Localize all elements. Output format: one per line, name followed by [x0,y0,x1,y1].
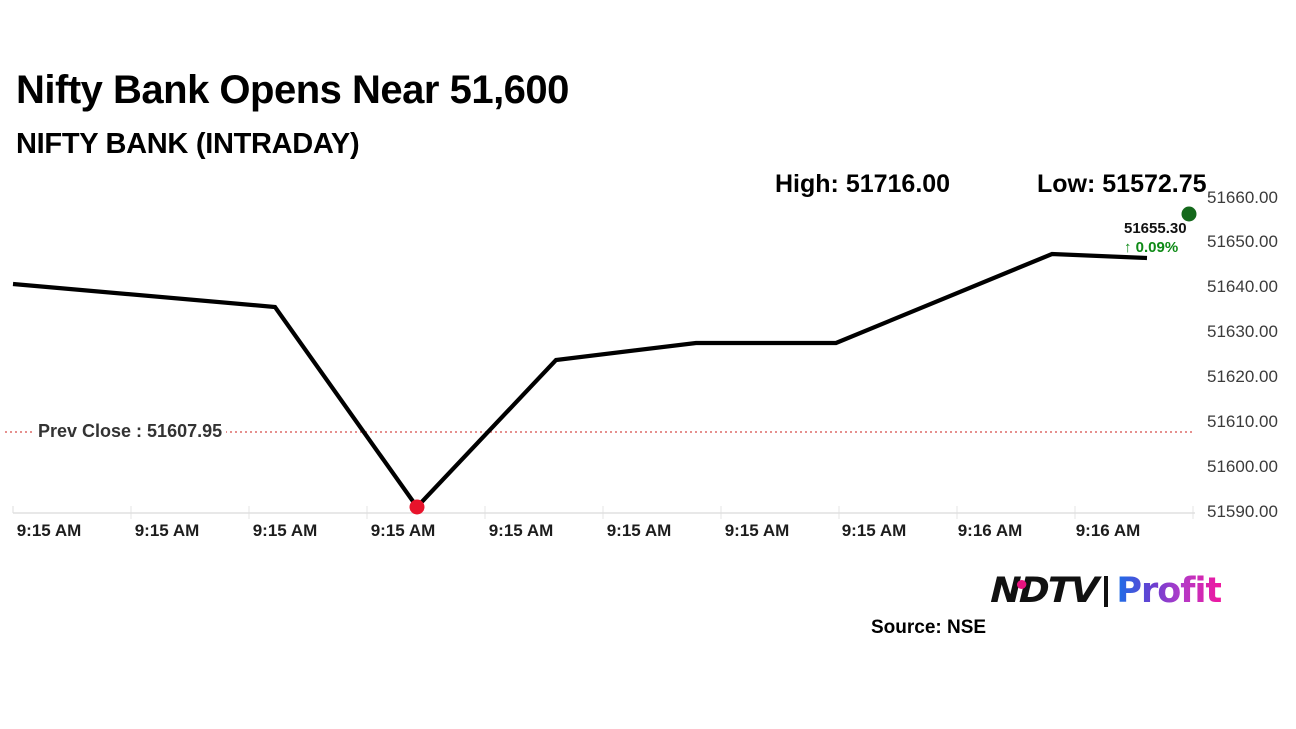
profit-wordmark: Profit [1116,571,1221,611]
logo-divider [1104,576,1108,607]
x-axis-label: 9:15 AM [135,521,200,541]
x-axis-label: 9:15 AM [253,521,318,541]
x-axis-label: 9:16 AM [958,521,1023,541]
ndtv-text: NDTV [990,571,1098,611]
y-axis-label: 51620.00 [1207,367,1278,387]
x-axis-label: 9:15 AM [489,521,554,541]
y-axis-label: 51640.00 [1207,277,1278,297]
y-axis-label: 51610.00 [1207,412,1278,432]
y-axis-label: 51630.00 [1207,322,1278,342]
ndtv-profit-logo: NDTV Profit [993,571,1221,611]
last-price-value: 51655.30 [1124,220,1187,237]
y-axis-label: 51650.00 [1207,232,1278,252]
x-axis-label: 9:15 AM [17,521,82,541]
price-line [13,254,1147,507]
x-axis-label: 9:15 AM [842,521,907,541]
last-price-change: ↑ 0.09% [1124,239,1178,256]
prev-close-label: Prev Close : 51607.95 [34,421,226,442]
intraday-line-chart [0,0,1296,729]
x-axis-label: 9:15 AM [607,521,672,541]
source-attribution: Source: NSE [871,617,986,639]
x-axis-label: 9:15 AM [725,521,790,541]
x-axis-label: 9:16 AM [1076,521,1141,541]
y-axis-label: 51660.00 [1207,188,1278,208]
x-axis-label: 9:15 AM [371,521,436,541]
y-axis-label: 51590.00 [1207,502,1278,522]
y-axis-label: 51600.00 [1207,457,1278,477]
low-marker-dot [410,500,425,515]
ndtv-wordmark: NDTV [990,571,1098,611]
